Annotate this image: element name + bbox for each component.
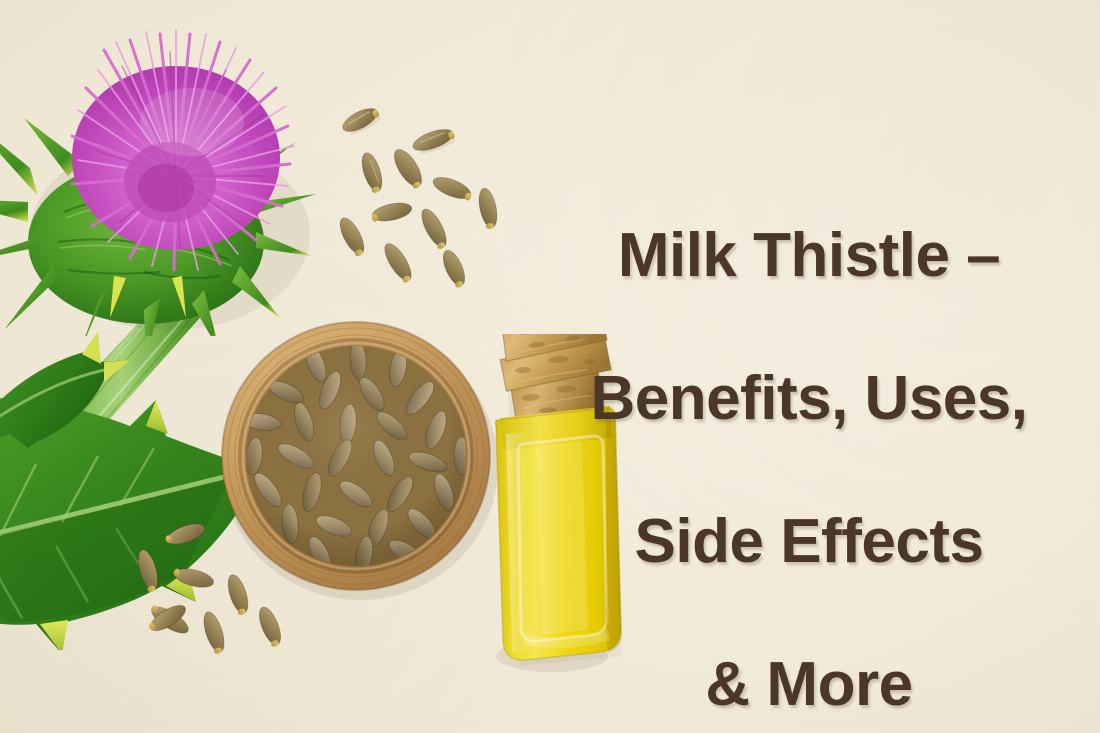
thistle-leaf-small [0,330,140,450]
title-line-4: & More [554,649,1064,721]
seed-bowl [206,306,506,606]
scattered-seeds-top [330,100,520,310]
stray-seed [138,596,198,642]
page-title: Milk Thistle – Benefits, Uses, Side Effe… [554,148,1064,733]
title-line-1: Milk Thistle – [554,220,1064,292]
title-line-2: Benefits, Uses, [554,363,1064,435]
title-line-3: Side Effects [554,506,1064,578]
header-graphic: Milk Thistle – Benefits, Uses, Side Effe… [0,0,1100,733]
thistle-flower [0,26,334,336]
